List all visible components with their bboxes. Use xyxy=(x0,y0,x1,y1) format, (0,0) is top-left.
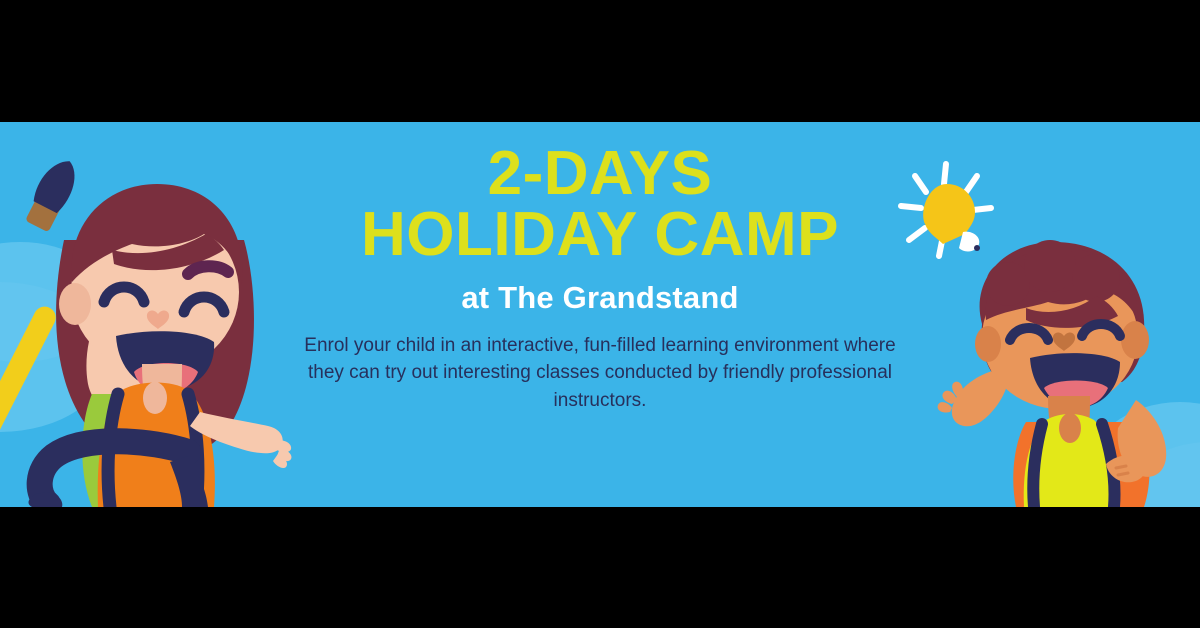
banner-stage: 2-DAYS HOLIDAY CAMP at The Grandstand En… xyxy=(0,0,1200,628)
banner-text-block: 2-DAYS HOLIDAY CAMP at The Grandstand En… xyxy=(300,144,900,414)
boy-illustration xyxy=(930,232,1200,507)
banner-subtitle: at The Grandstand xyxy=(300,280,900,316)
girl-illustration xyxy=(0,122,302,507)
headline-line-2: HOLIDAY CAMP xyxy=(300,205,900,266)
lightbulb-icon xyxy=(893,158,1003,263)
page-title: 2-DAYS HOLIDAY CAMP xyxy=(300,144,900,266)
letterbox-bottom xyxy=(0,507,1200,628)
headline-line-1: 2-DAYS xyxy=(488,139,713,208)
letterbox-top xyxy=(0,0,1200,122)
banner-body-text: Enrol your child in an interactive, fun-… xyxy=(300,332,900,415)
promo-banner: 2-DAYS HOLIDAY CAMP at The Grandstand En… xyxy=(0,122,1200,507)
